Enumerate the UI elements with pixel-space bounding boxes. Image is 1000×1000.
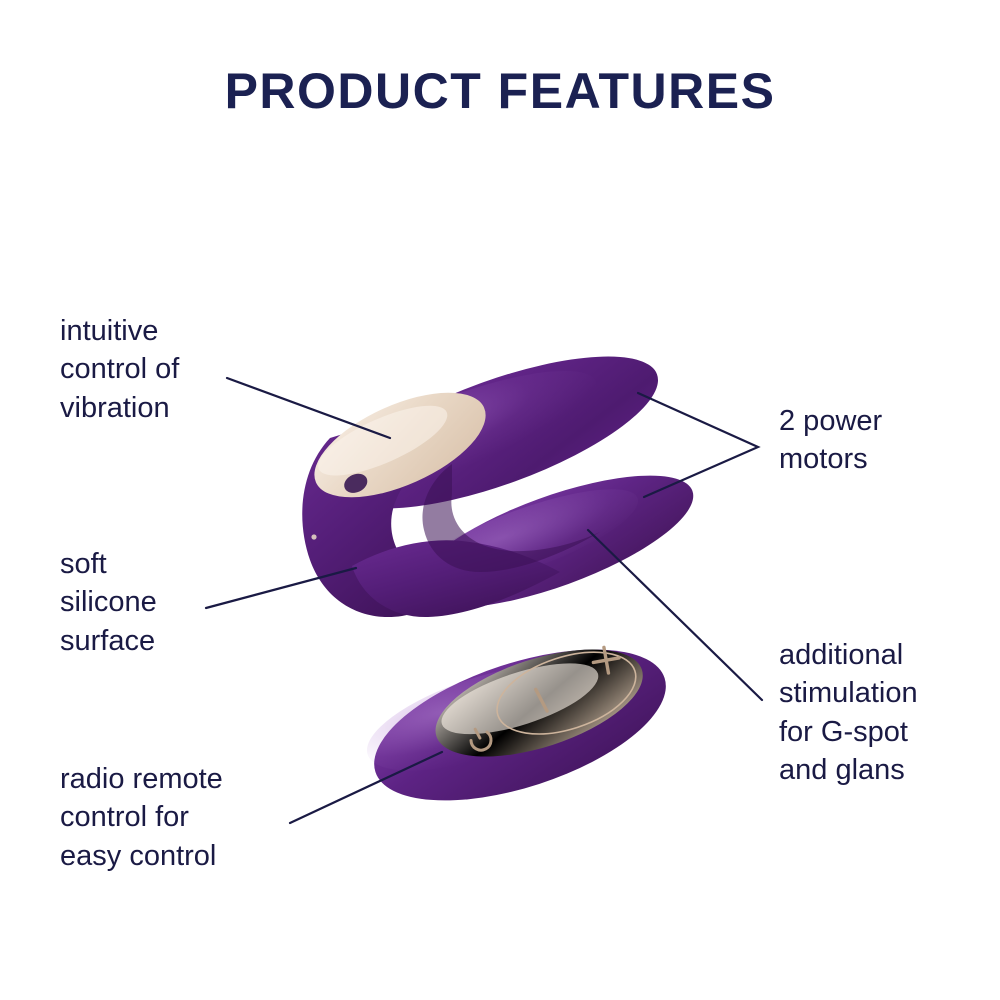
callout-radio-remote: radio remote control for easy control <box>60 760 223 875</box>
product-features-diagram: PRODUCT FEATURES intuitive control of vi… <box>0 0 1000 1000</box>
page-title: PRODUCT FEATURES <box>0 62 1000 120</box>
remote-control <box>354 619 683 831</box>
callout-intuitive-control: intuitive control of vibration <box>60 312 179 427</box>
callout-power-motors: 2 power motors <box>779 402 882 479</box>
callout-additional-stimulation: additional stimulation for G-spot and gl… <box>779 636 918 789</box>
leader-line-intuitive <box>227 378 390 438</box>
callout-soft-silicone: soft silicone surface <box>60 545 157 660</box>
device-led-indicator <box>311 534 316 539</box>
